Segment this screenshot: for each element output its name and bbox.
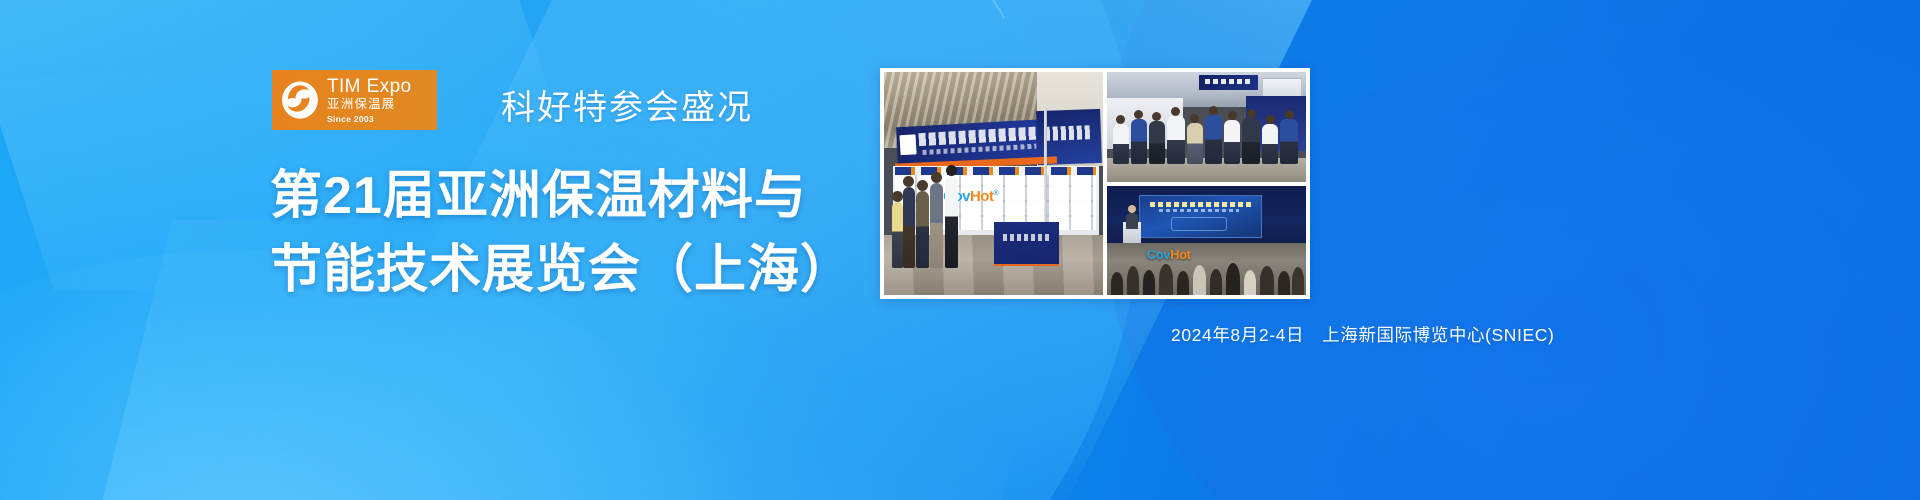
attendee-figure [1242,118,1260,165]
attendee-figure [1280,119,1298,164]
visitor-figure [892,202,903,268]
audience-head [1159,264,1173,295]
collage-right-column: CovHot [1107,72,1306,295]
visitor-figure [930,183,943,269]
aisle-overhead-sign [1199,75,1259,89]
audience-heads [1107,245,1306,295]
audience-head [1127,266,1139,295]
crowd-photo [1107,72,1306,182]
audience-head [1278,271,1290,295]
attendee-figure [1205,115,1223,164]
audience-head [1260,266,1274,295]
attendee-figure [1224,120,1240,164]
audience-head [1244,270,1256,295]
visitor-figure [916,191,928,268]
banner-subtitle: 科好特参会盛况 [501,80,753,129]
booth-banner-english-text [923,143,1037,155]
attendee-figure [1262,124,1278,165]
headline-line-1: 第21届亚洲保温材料与 [270,160,853,234]
logo-chinese-name: 亚洲保温展 [327,98,412,111]
attendee-figure [1113,124,1129,165]
screen-diagram [1171,217,1227,231]
audience-head [1210,269,1222,295]
exhibition-banner: TIM Expo 亚洲保温展 Since 2003 科好特参会盛况 第21届亚洲… [0,0,1920,500]
attendee-figure [1149,121,1165,164]
audience-head [1143,270,1155,295]
visitor-figure [945,176,958,268]
crowd-group [1107,103,1306,165]
attendee-figure [1131,119,1147,165]
event-date-venue: 2024年8月2-4日 上海新国际博览中心(SNIEC) [1171,322,1554,347]
conference-photo: CovHot [1107,186,1306,295]
attendee-figure [1187,123,1203,165]
tim-expo-logo: TIM Expo 亚洲保温展 Since 2003 [272,70,437,130]
headline-line-2: 节能技术展览会（上海） [270,234,853,308]
logo-text-block: TIM Expo 亚洲保温展 Since 2003 [327,77,412,123]
audience-head [1193,265,1207,295]
booth-photo: CovHot® [884,72,1103,295]
banner-headline: 第21届亚洲保温材料与 节能技术展览会（上海） [270,160,853,308]
presentation-screen [1139,195,1262,239]
screen-title-text [1150,202,1252,207]
booth-visitors-group [891,161,1014,268]
audience-head [1292,267,1304,295]
logo-english-name: TIM Expo [327,77,412,96]
screen-subtitle-text [1159,209,1239,212]
audience-head [1177,271,1189,295]
booth-banner-logo [900,135,917,156]
covhot-brand-mark: CovHot [1147,247,1191,262]
speaker-figure [1126,213,1138,228]
logo-since-text: Since 2003 [327,115,412,124]
swirl-yin-yang-icon [278,78,322,122]
audience-head [1226,263,1240,295]
exhibition-photo-collage: CovHot® [880,68,1310,299]
attendee-figure [1167,116,1185,164]
audience-head [1111,272,1123,295]
visitor-figure [903,187,915,268]
